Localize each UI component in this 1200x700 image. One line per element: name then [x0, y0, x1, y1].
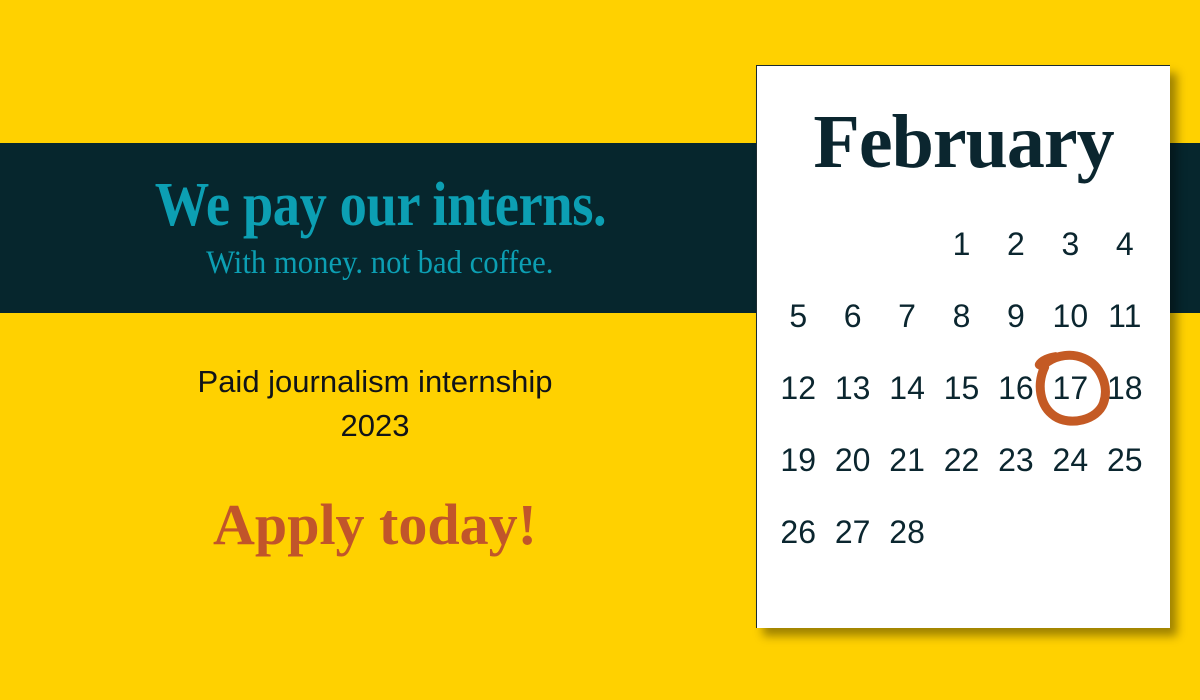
calendar-day-3[interactable]: 3 — [1043, 228, 1097, 260]
calendar-day-number: 17 — [1053, 370, 1089, 406]
page-subtitle: With money. not bad coffee. — [206, 245, 553, 281]
calendar-month-label: February — [757, 104, 1170, 180]
calendar-day-number: 20 — [835, 442, 871, 478]
calendar-day-21[interactable]: 21 — [880, 444, 934, 476]
calendar-day-10[interactable]: 10 — [1043, 300, 1097, 332]
calendar-day-28[interactable]: 28 — [880, 516, 934, 548]
calendar-day-number: 25 — [1107, 442, 1143, 478]
calendar-day-number: 15 — [944, 370, 980, 406]
calendar-day-number: 6 — [844, 298, 862, 334]
calendar-day-number: 5 — [789, 298, 807, 334]
calendar-day-number: 16 — [998, 370, 1034, 406]
calendar-day-number: 26 — [780, 514, 816, 550]
calendar-day-27[interactable]: 27 — [825, 516, 879, 548]
calendar-day-number: 28 — [889, 514, 925, 550]
headline-group: We pay our interns. With money. not bad … — [0, 143, 760, 313]
calendar-day-12[interactable]: 12 — [771, 372, 825, 404]
calendar-day-15[interactable]: 15 — [934, 372, 988, 404]
calendar-day-number: 3 — [1061, 226, 1079, 262]
calendar-day-number: 4 — [1116, 226, 1134, 262]
calendar-day-number: 11 — [1108, 298, 1141, 334]
calendar-day-22[interactable]: 22 — [934, 444, 988, 476]
calendar-day-17[interactable]: 17 — [1043, 372, 1097, 404]
page-title: We pay our interns. — [154, 174, 605, 237]
calendar-day-number: 12 — [780, 370, 816, 406]
calendar-day-grid: 1234567891011121314151617181920212223242… — [757, 208, 1170, 568]
calendar-day-13[interactable]: 13 — [825, 372, 879, 404]
calendar-day-18[interactable]: 18 — [1098, 372, 1152, 404]
calendar-day-number: 1 — [953, 226, 971, 262]
calendar-day-24[interactable]: 24 — [1043, 444, 1097, 476]
calendar-card: February 1234567891011121314151617181920… — [756, 65, 1170, 628]
calendar-day-26[interactable]: 26 — [771, 516, 825, 548]
calendar-day-number: 23 — [998, 442, 1034, 478]
calendar-day-1[interactable]: 1 — [934, 228, 988, 260]
calendar-day-11[interactable]: 11 — [1098, 300, 1152, 332]
calendar-day-number: 9 — [1007, 298, 1025, 334]
calendar-day-number: 13 — [835, 370, 871, 406]
calendar-day-6[interactable]: 6 — [825, 300, 879, 332]
calendar-day-number: 24 — [1053, 442, 1089, 478]
calendar-day-number: 7 — [898, 298, 916, 334]
calendar-day-4[interactable]: 4 — [1098, 228, 1152, 260]
calendar-day-19[interactable]: 19 — [771, 444, 825, 476]
calendar-day-9[interactable]: 9 — [989, 300, 1043, 332]
calendar-day-14[interactable]: 14 — [880, 372, 934, 404]
calendar-day-number: 19 — [780, 442, 816, 478]
calendar-day-number: 2 — [1007, 226, 1025, 262]
calendar-day-20[interactable]: 20 — [825, 444, 879, 476]
apply-today-callout[interactable]: Apply today! — [0, 496, 750, 554]
promo-line-1: Paid journalism internship — [0, 360, 750, 404]
calendar-day-25[interactable]: 25 — [1098, 444, 1152, 476]
poster-canvas: We pay our interns. With money. not bad … — [0, 0, 1200, 700]
calendar-day-number: 14 — [889, 370, 925, 406]
calendar-day-number: 21 — [889, 442, 925, 478]
promo-line-2: 2023 — [0, 404, 750, 448]
calendar-day-number: 10 — [1053, 298, 1089, 334]
calendar-day-23[interactable]: 23 — [989, 444, 1043, 476]
promo-text-block: Paid journalism internship 2023 Apply to… — [0, 360, 750, 554]
calendar-day-7[interactable]: 7 — [880, 300, 934, 332]
calendar-day-number: 18 — [1107, 370, 1143, 406]
calendar-day-number: 27 — [835, 514, 871, 550]
calendar-day-number: 22 — [944, 442, 980, 478]
calendar-day-16[interactable]: 16 — [989, 372, 1043, 404]
calendar-day-5[interactable]: 5 — [771, 300, 825, 332]
calendar-day-8[interactable]: 8 — [934, 300, 988, 332]
calendar-day-number: 8 — [953, 298, 971, 334]
calendar-day-2[interactable]: 2 — [989, 228, 1043, 260]
